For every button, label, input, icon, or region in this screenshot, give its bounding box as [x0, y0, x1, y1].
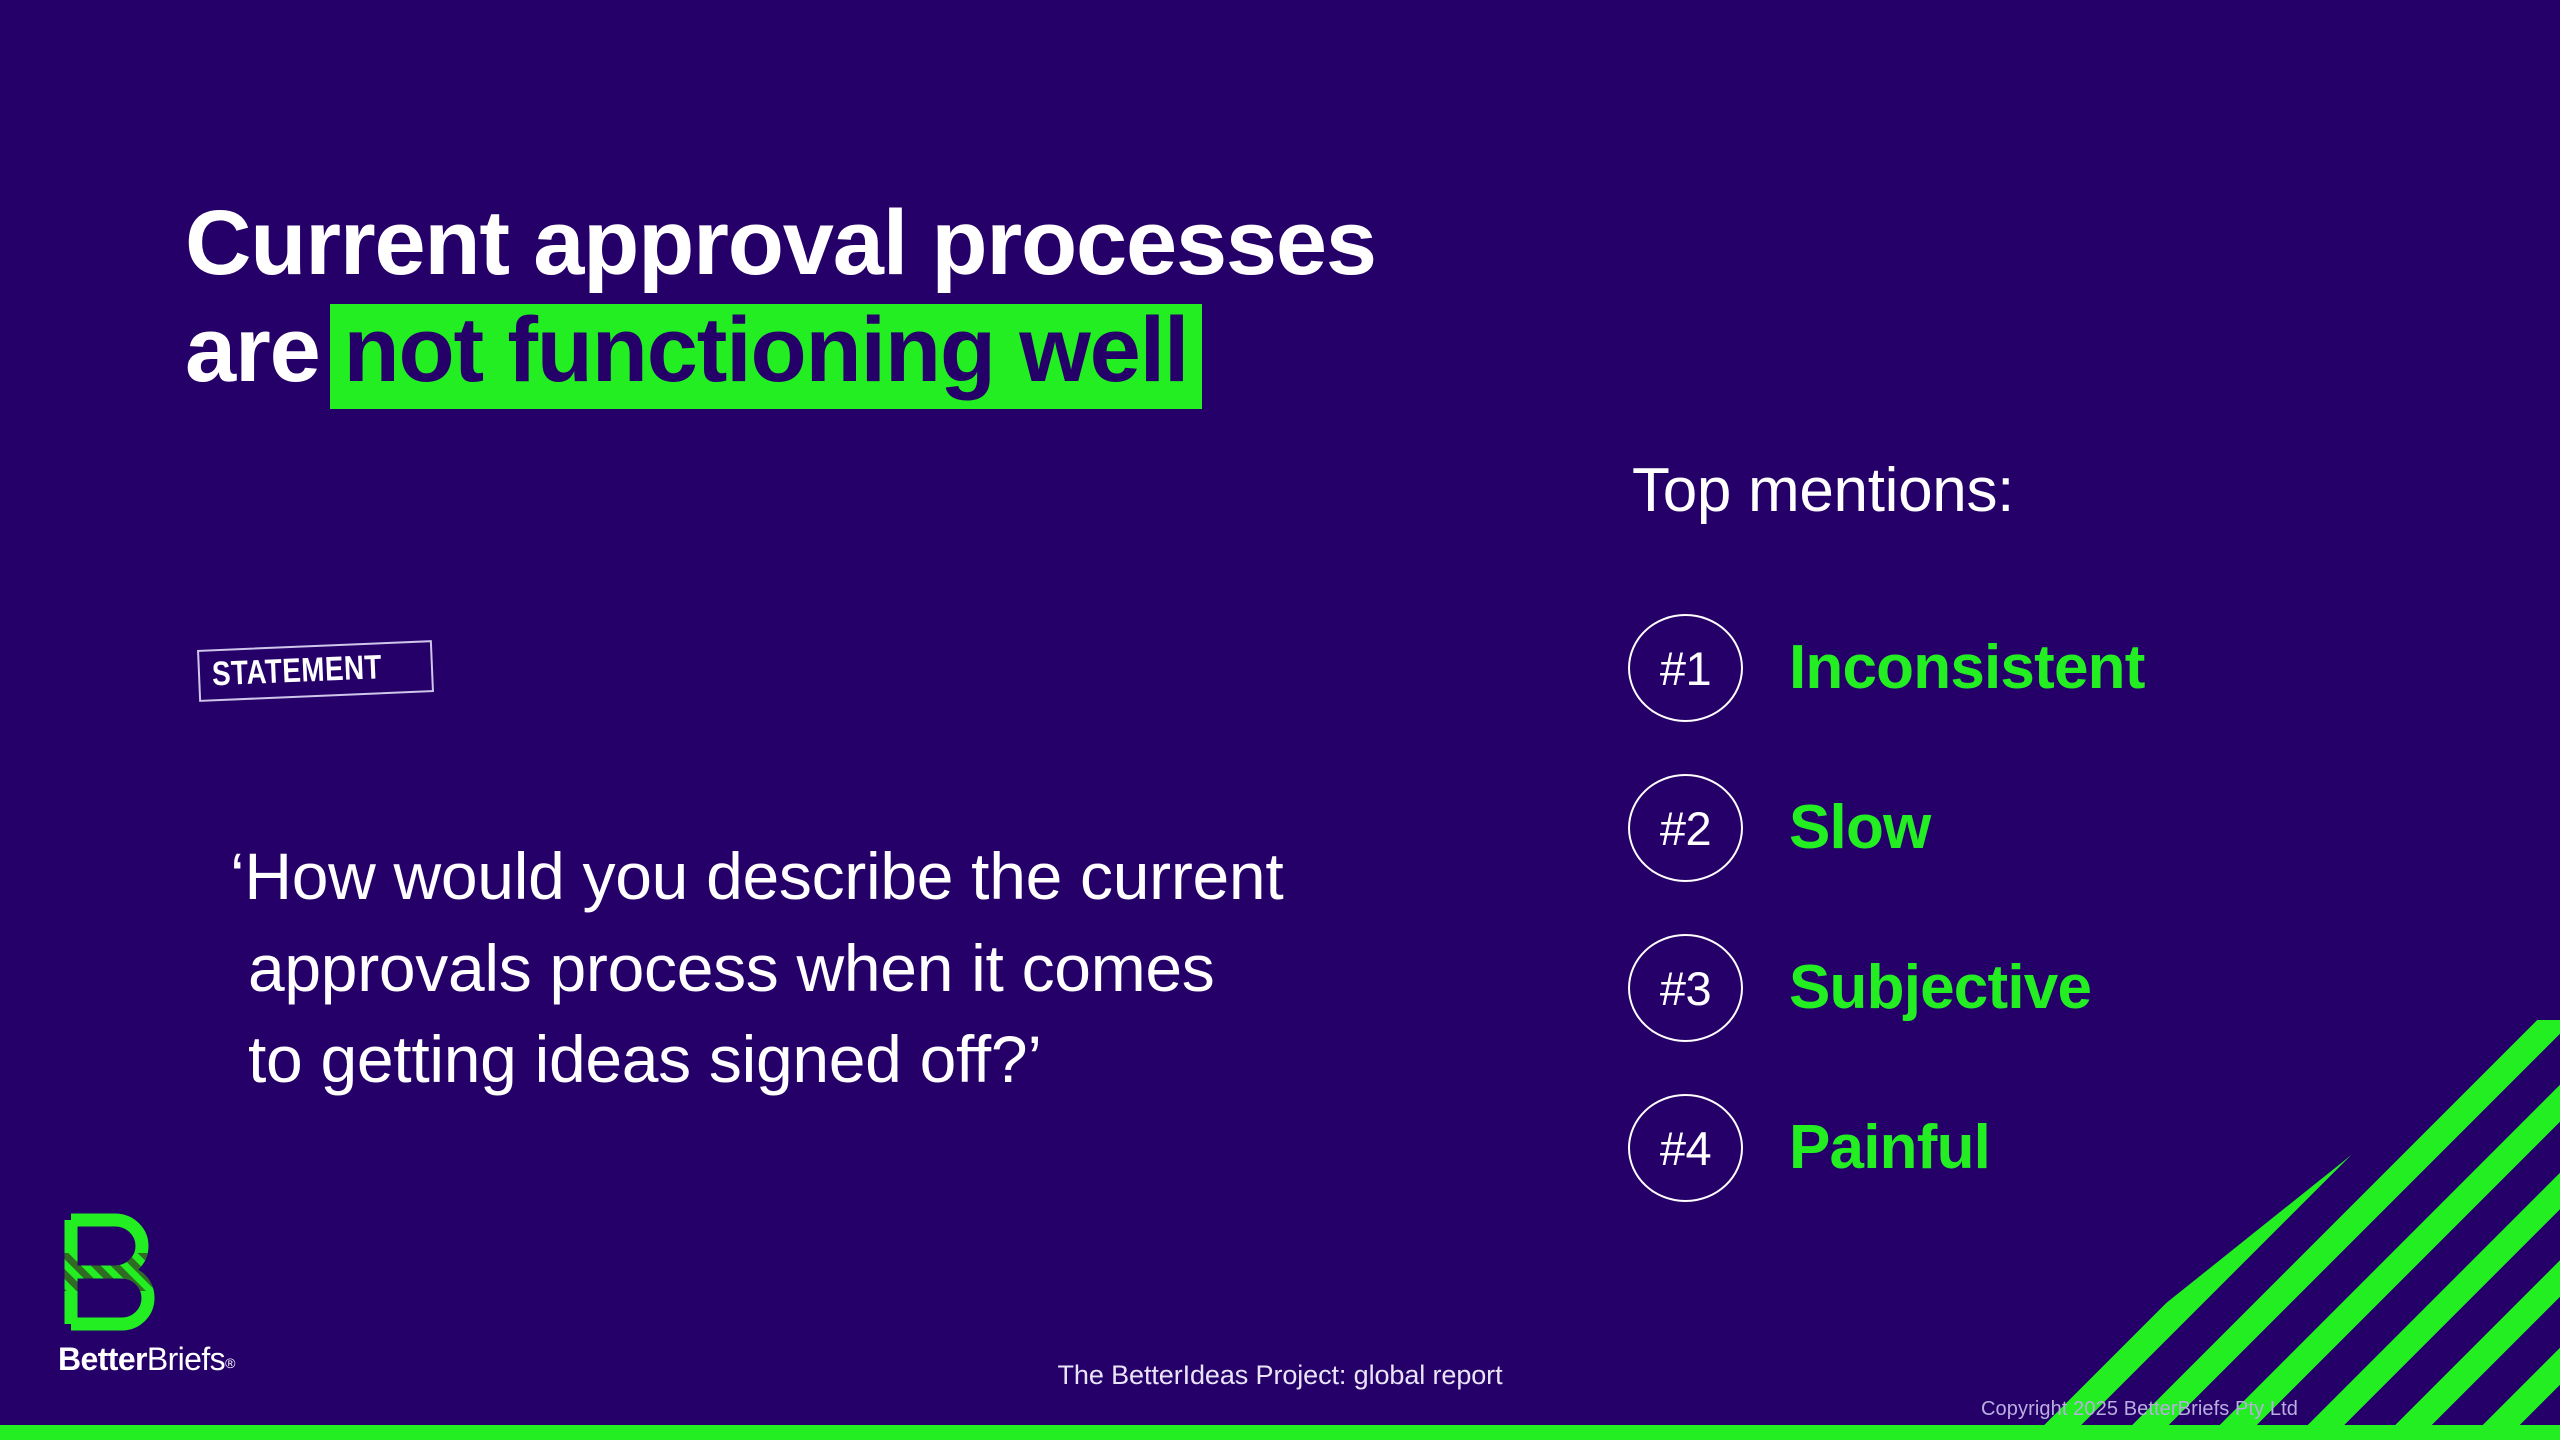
top-mentions-panel: Top mentions: #1 Inconsistent #2 Slow #3… — [1628, 460, 2448, 1254]
top-mentions-heading: Top mentions: — [1632, 460, 2448, 522]
mention-row-1: #1 Inconsistent — [1628, 614, 2448, 722]
statement-badge-label: STATEMENT — [211, 650, 382, 691]
rank-badge-1: #1 — [1628, 614, 1743, 722]
logo-registered-mark: ® — [225, 1355, 235, 1371]
mention-label-1: Inconsistent — [1789, 637, 2145, 699]
mention-row-3: #3 Subjective — [1628, 934, 2448, 1042]
quote-line-3: to getting ideas signed off?’ — [230, 1014, 1590, 1106]
title-line-1: Current approval processes — [185, 190, 1685, 298]
rank-badge-2: #2 — [1628, 774, 1743, 882]
title-line-2-prefix: are — [185, 299, 320, 401]
rank-badge-4: #4 — [1628, 1094, 1743, 1202]
logo-wordmark: BetterBriefs® — [58, 1343, 318, 1375]
slide-root: Current approval processes arenot functi… — [0, 0, 2560, 1440]
quote-line-1: ‘How would you describe the current — [230, 831, 1590, 923]
rank-badge-3: #3 — [1628, 934, 1743, 1042]
title-highlight: not functioning well — [330, 304, 1203, 408]
mention-label-4: Painful — [1789, 1117, 1990, 1179]
bottom-accent-bar — [0, 1425, 2560, 1440]
mention-row-2: #2 Slow — [1628, 774, 2448, 882]
statement-badge: STATEMENT — [197, 640, 434, 702]
quote-line-2: approvals process when it comes — [230, 923, 1590, 1015]
statement-quote: ‘How would you describe the current appr… — [230, 831, 1590, 1106]
logo-wordmark-bold: Better — [58, 1341, 147, 1377]
mention-row-4: #4 Painful — [1628, 1094, 2448, 1202]
betterbriefs-logo: BetterBriefs® — [58, 1213, 318, 1375]
logo-wordmark-light: Briefs — [147, 1341, 225, 1377]
mention-label-2: Slow — [1789, 797, 1930, 859]
mention-label-3: Subjective — [1789, 957, 2091, 1019]
title-line-2: arenot functioning well — [185, 297, 1685, 408]
footer-copyright: Copyright 2025 BetterBriefs Pty Ltd — [1981, 1398, 2298, 1421]
page-title: Current approval processes arenot functi… — [185, 190, 1685, 409]
footer-report-title: The BetterIdeas Project: global report — [1058, 1360, 1503, 1391]
logo-b-mark-icon — [58, 1213, 158, 1331]
